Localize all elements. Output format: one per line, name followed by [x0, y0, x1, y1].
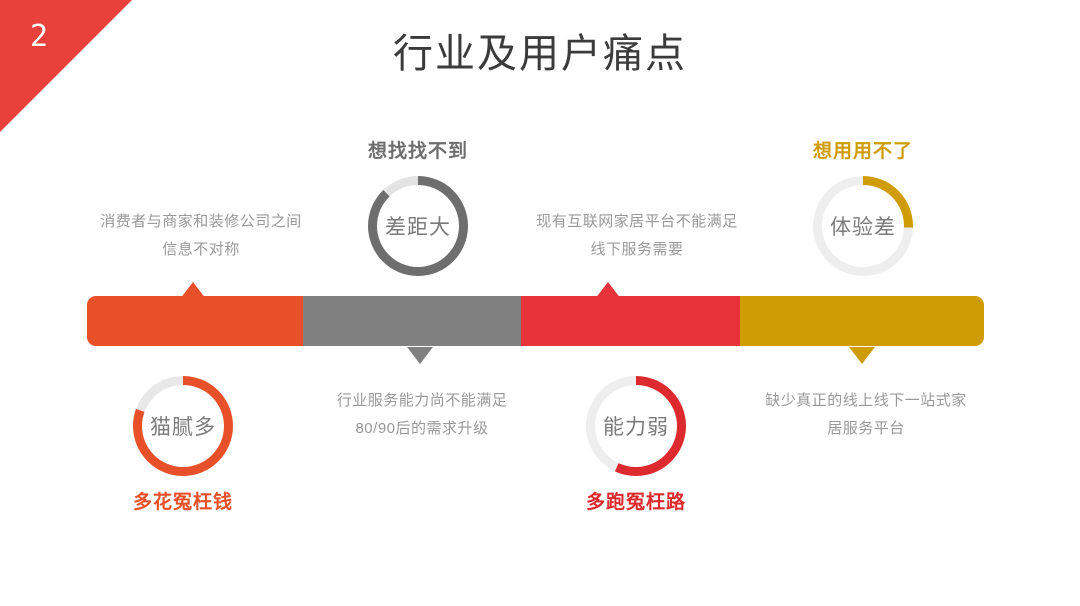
pain-description-2: 现有互联网家居平台不能满足 线下服务需要 [502, 208, 772, 264]
bar-segment-gray [303, 296, 521, 346]
bar-segment-gold [740, 296, 984, 346]
donut-hole-2: 体验差 [822, 185, 904, 267]
desc-line: 信息不对称 [66, 236, 336, 264]
donut-ring-chart-3: 猫腻多 [133, 376, 233, 476]
desc-line: 缺少真正的线上线下一站式家 [732, 387, 1000, 415]
donut-label-1: 差距大 [385, 211, 451, 241]
donut-hole-4: 能力弱 [595, 385, 677, 467]
donut-ring-chart-2: 体验差 [813, 176, 913, 276]
desc-line: 居服务平台 [732, 415, 1000, 443]
desc-line: 线下服务需要 [502, 236, 772, 264]
page-title: 行业及用户痛点 [0, 30, 1080, 78]
desc-line: 消费者与商家和装修公司之间 [66, 208, 336, 236]
desc-line: 行业服务能力尚不能满足 [292, 387, 552, 415]
pain-description-4: 缺少真正的线上线下一站式家 居服务平台 [732, 387, 1000, 443]
arrow-up-orange [180, 282, 206, 299]
pain-description-1: 消费者与商家和装修公司之间 信息不对称 [66, 208, 336, 264]
donut-label-4: 能力弱 [603, 411, 669, 441]
arrow-down-gray [407, 347, 433, 364]
arrow-up-red [595, 282, 621, 299]
donut-ring-chart-4: 能力弱 [586, 376, 686, 476]
donut-ring-chart-1: 差距大 [368, 176, 468, 276]
pain-description-3: 行业服务能力尚不能满足 80/90后的需求升级 [292, 387, 552, 443]
desc-line: 80/90后的需求升级 [292, 415, 552, 443]
bar-segment-orange [87, 296, 303, 346]
donut-label-3: 猫腻多 [150, 411, 216, 441]
pain-headline-2: 想用用不了 [763, 136, 963, 163]
pain-headline-3: 多花冤枉钱 [83, 487, 283, 514]
pain-headline-1: 想找找不到 [318, 136, 518, 163]
pain-headline-4: 多跑冤枉路 [536, 487, 736, 514]
bar-segment-red [521, 296, 740, 346]
desc-line: 现有互联网家居平台不能满足 [502, 208, 772, 236]
donut-hole-3: 猫腻多 [142, 385, 224, 467]
donut-label-2: 体验差 [830, 211, 896, 241]
donut-hole-1: 差距大 [377, 185, 459, 267]
arrow-down-gold [849, 347, 875, 364]
timeline-bar [87, 296, 984, 346]
